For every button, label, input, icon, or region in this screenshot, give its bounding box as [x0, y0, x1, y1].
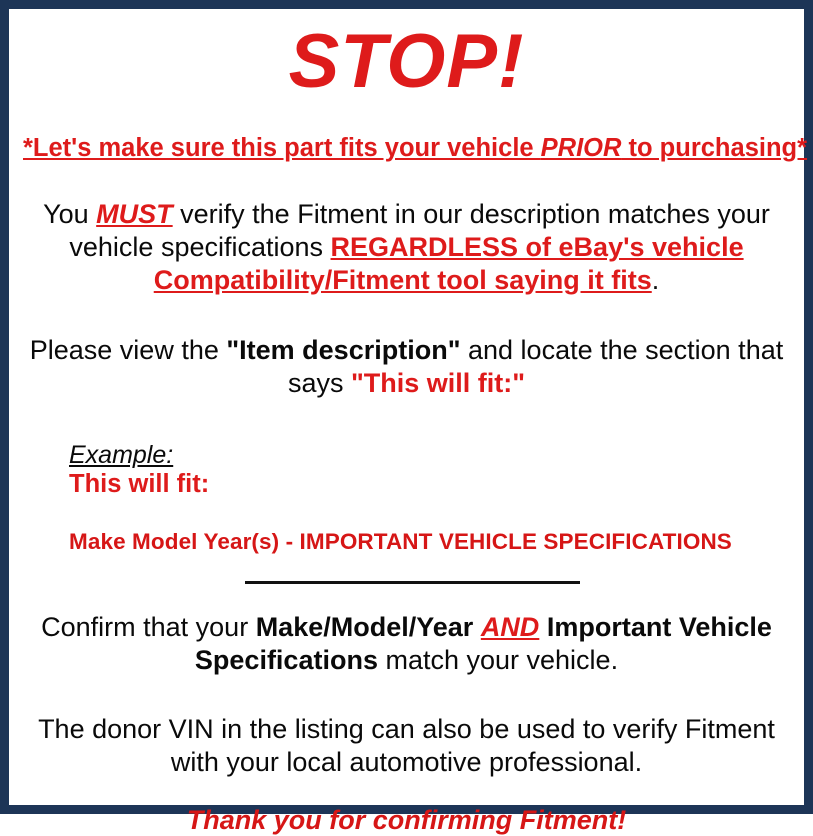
confirm-seg-1: Confirm that your: [41, 612, 256, 642]
must-seg-3: .: [652, 265, 660, 295]
item-description-emphasis: "Item description": [226, 335, 460, 365]
must-seg-1: You: [43, 199, 96, 229]
example-fit-heading: This will fit:: [69, 470, 790, 499]
subtitle-text-after: to purchasing*: [621, 134, 807, 162]
view-description-paragraph: Please view the "Item description" and l…: [23, 334, 790, 400]
confirm-seg-3: [539, 612, 547, 642]
confirm-seg-2: [473, 612, 481, 642]
divider-rule: [245, 581, 580, 584]
must-verify-paragraph: You MUST verify the Fitment in our descr…: [23, 198, 790, 297]
and-emphasis: AND: [481, 612, 540, 642]
example-spec-line: Make Model Year(s) - IMPORTANT VEHICLE S…: [69, 529, 790, 555]
example-block: Example: This will fit: Make Model Year(…: [23, 442, 790, 555]
divider: [23, 581, 790, 595]
example-label: Example:: [69, 442, 790, 468]
page-title: STOP!: [23, 24, 790, 100]
closing-thank-you: Thank you for confirming Fitment!: [23, 805, 790, 836]
subtitle-warning: *Let's make sure this part fits your veh…: [23, 134, 790, 162]
confirm-seg-4: match your vehicle.: [378, 645, 618, 675]
view-seg-1: Please view the: [30, 335, 227, 365]
make-model-year-emphasis: Make/Model/Year: [256, 612, 474, 642]
donor-vin-paragraph: The donor VIN in the listing can also be…: [23, 713, 790, 779]
confirm-paragraph: Confirm that your Make/Model/Year AND Im…: [23, 611, 790, 677]
fitment-notice-card: STOP! *Let's make sure this part fits yo…: [0, 0, 813, 814]
subtitle-emphasis-prior: PRIOR: [541, 134, 622, 162]
must-emphasis: MUST: [96, 199, 173, 229]
subtitle-text-before: *Let's make sure this part fits your veh…: [23, 134, 541, 162]
this-will-fit-emphasis: "This will fit:": [351, 368, 525, 398]
